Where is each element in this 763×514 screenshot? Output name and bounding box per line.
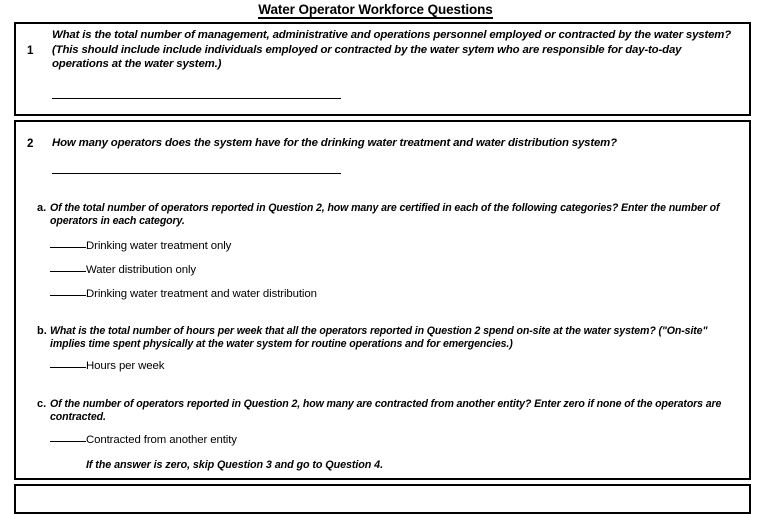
option-row-hours-per-week[interactable]: Hours per week <box>50 360 164 372</box>
question-1-answer-blank[interactable] <box>52 98 341 99</box>
option-label-water-distribution-only: Water distribution only <box>86 264 196 276</box>
question-3-box-partial <box>14 484 751 514</box>
option-label-hours-per-week: Hours per week <box>86 360 164 372</box>
option-label-contracted-from-another-entity: Contracted from another entity <box>86 434 237 446</box>
subquestion-a-text: Of the total number of operators reporte… <box>50 202 722 229</box>
option-label-treatment-and-distribution: Drinking water treatment and water distr… <box>86 288 317 300</box>
question-2-text: How many operators does the system have … <box>52 136 734 151</box>
question-2-box <box>14 120 751 480</box>
option-blank-contracted-from-another-entity[interactable] <box>50 441 86 442</box>
subquestion-b-text: What is the total number of hours per we… <box>50 325 722 352</box>
question-2-number: 2 <box>27 139 33 151</box>
option-row-treatment-and-distribution[interactable]: Drinking water treatment and water distr… <box>50 288 317 300</box>
question-1-number: 1 <box>27 46 33 58</box>
option-blank-water-distribution-only[interactable] <box>50 271 86 272</box>
option-label-drinking-water-treatment-only: Drinking water treatment only <box>86 240 231 252</box>
subquestion-c-skip-note: If the answer is zero, skip Question 3 a… <box>86 459 383 471</box>
option-row-drinking-water-treatment-only[interactable]: Drinking water treatment only <box>50 240 231 252</box>
page-title-text: Water Operator Workforce Questions <box>258 2 492 19</box>
question-1-text: What is the total number of management, … <box>52 28 734 72</box>
question-2-answer-blank[interactable] <box>52 173 341 174</box>
subquestion-c-text: Of the number of operators reported in Q… <box>50 398 722 425</box>
option-blank-hours-per-week[interactable] <box>50 367 86 368</box>
subquestion-a-letter: a. <box>37 203 46 214</box>
page-title: Water Operator Workforce Questions <box>0 2 751 17</box>
option-row-contracted-from-another-entity[interactable]: Contracted from another entity <box>50 434 237 446</box>
option-blank-drinking-water-treatment-only[interactable] <box>50 247 86 248</box>
subquestion-b-letter: b. <box>37 326 47 337</box>
option-blank-treatment-and-distribution[interactable] <box>50 295 86 296</box>
subquestion-c-letter: c. <box>37 399 46 410</box>
survey-page: Water Operator Workforce Questions 1 Wha… <box>0 0 763 495</box>
option-row-water-distribution-only[interactable]: Water distribution only <box>50 264 196 276</box>
